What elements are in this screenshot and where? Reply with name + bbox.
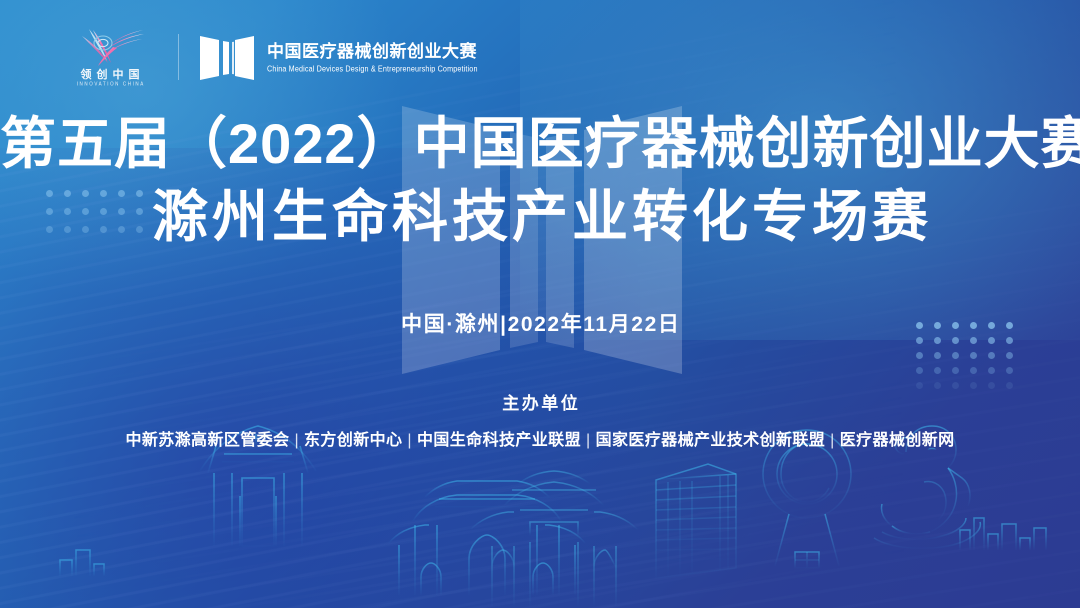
- dot: [952, 337, 959, 344]
- organizers-title: 主办单位: [0, 389, 1080, 414]
- competition-cn-title: 中国医疗器械创新创业大赛: [267, 41, 478, 62]
- innovation-china-logo: 领创中国 INNOVATION CHINA: [62, 27, 158, 86]
- organizer-separator: |: [289, 432, 304, 449]
- logo-row: 领创中国 INNOVATION CHINA: [62, 24, 478, 90]
- headline: 第五届（2022）中国医疗器械创新创业大赛 滁州生命科技产业转化专场赛: [0, 113, 1080, 248]
- open-door-icon: [199, 31, 255, 83]
- event-banner: 领创中国 INNOVATION CHINA: [0, 0, 1080, 608]
- dot: [916, 367, 923, 374]
- event-location-date: 中国·滁州|2022年11月22日: [0, 308, 1080, 338]
- competition-logo: 中国医疗器械创新创业大赛 China Medical Devices Desig…: [199, 31, 478, 83]
- dot: [952, 382, 959, 389]
- dot: [934, 367, 941, 374]
- organizer-separator: |: [825, 432, 840, 449]
- logo-divider: [178, 34, 179, 80]
- organizer-item: 国家医疗器械产业技术创新联盟: [596, 432, 826, 449]
- dot: [1006, 367, 1013, 374]
- organizer-item: 中国生命科技产业联盟: [417, 432, 581, 449]
- organizers-list: 中新苏滁高新区管委会|东方创新中心|中国生命科技产业联盟|国家医疗器械产业技术创…: [0, 426, 1080, 450]
- organizer-item: 东方创新中心: [304, 432, 402, 449]
- dot: [988, 337, 995, 344]
- dot: [1006, 352, 1013, 359]
- organizer-separator: |: [581, 432, 596, 449]
- headline-line-1: 第五届（2022）中国医疗器械创新创业大赛: [0, 113, 1080, 176]
- dot: [970, 367, 977, 374]
- dot: [934, 337, 941, 344]
- dot: [988, 367, 995, 374]
- dot: [1006, 382, 1013, 389]
- background-light-streaks: [0, 0, 1080, 608]
- dot: [916, 382, 923, 389]
- dot: [934, 352, 941, 359]
- headline-line-2: 滁州生命科技产业转化专场赛: [0, 186, 1080, 249]
- dot: [1006, 337, 1013, 344]
- innovation-china-en-label: INNOVATION CHINA: [75, 81, 145, 88]
- dot: [970, 337, 977, 344]
- dot: [970, 382, 977, 389]
- dot: [934, 382, 941, 389]
- phoenix-bird-icon: [73, 27, 147, 67]
- dot: [916, 337, 923, 344]
- dot: [952, 352, 959, 359]
- dot: [988, 382, 995, 389]
- dot: [916, 352, 923, 359]
- organizer-separator: |: [402, 432, 417, 449]
- organizer-item: 中新苏滁高新区管委会: [125, 432, 289, 449]
- dot: [952, 367, 959, 374]
- organizer-item: 医疗器械创新网: [840, 432, 955, 449]
- dot: [970, 352, 977, 359]
- competition-en-title: China Medical Devices Design & Entrepren…: [267, 63, 478, 75]
- dot: [988, 352, 995, 359]
